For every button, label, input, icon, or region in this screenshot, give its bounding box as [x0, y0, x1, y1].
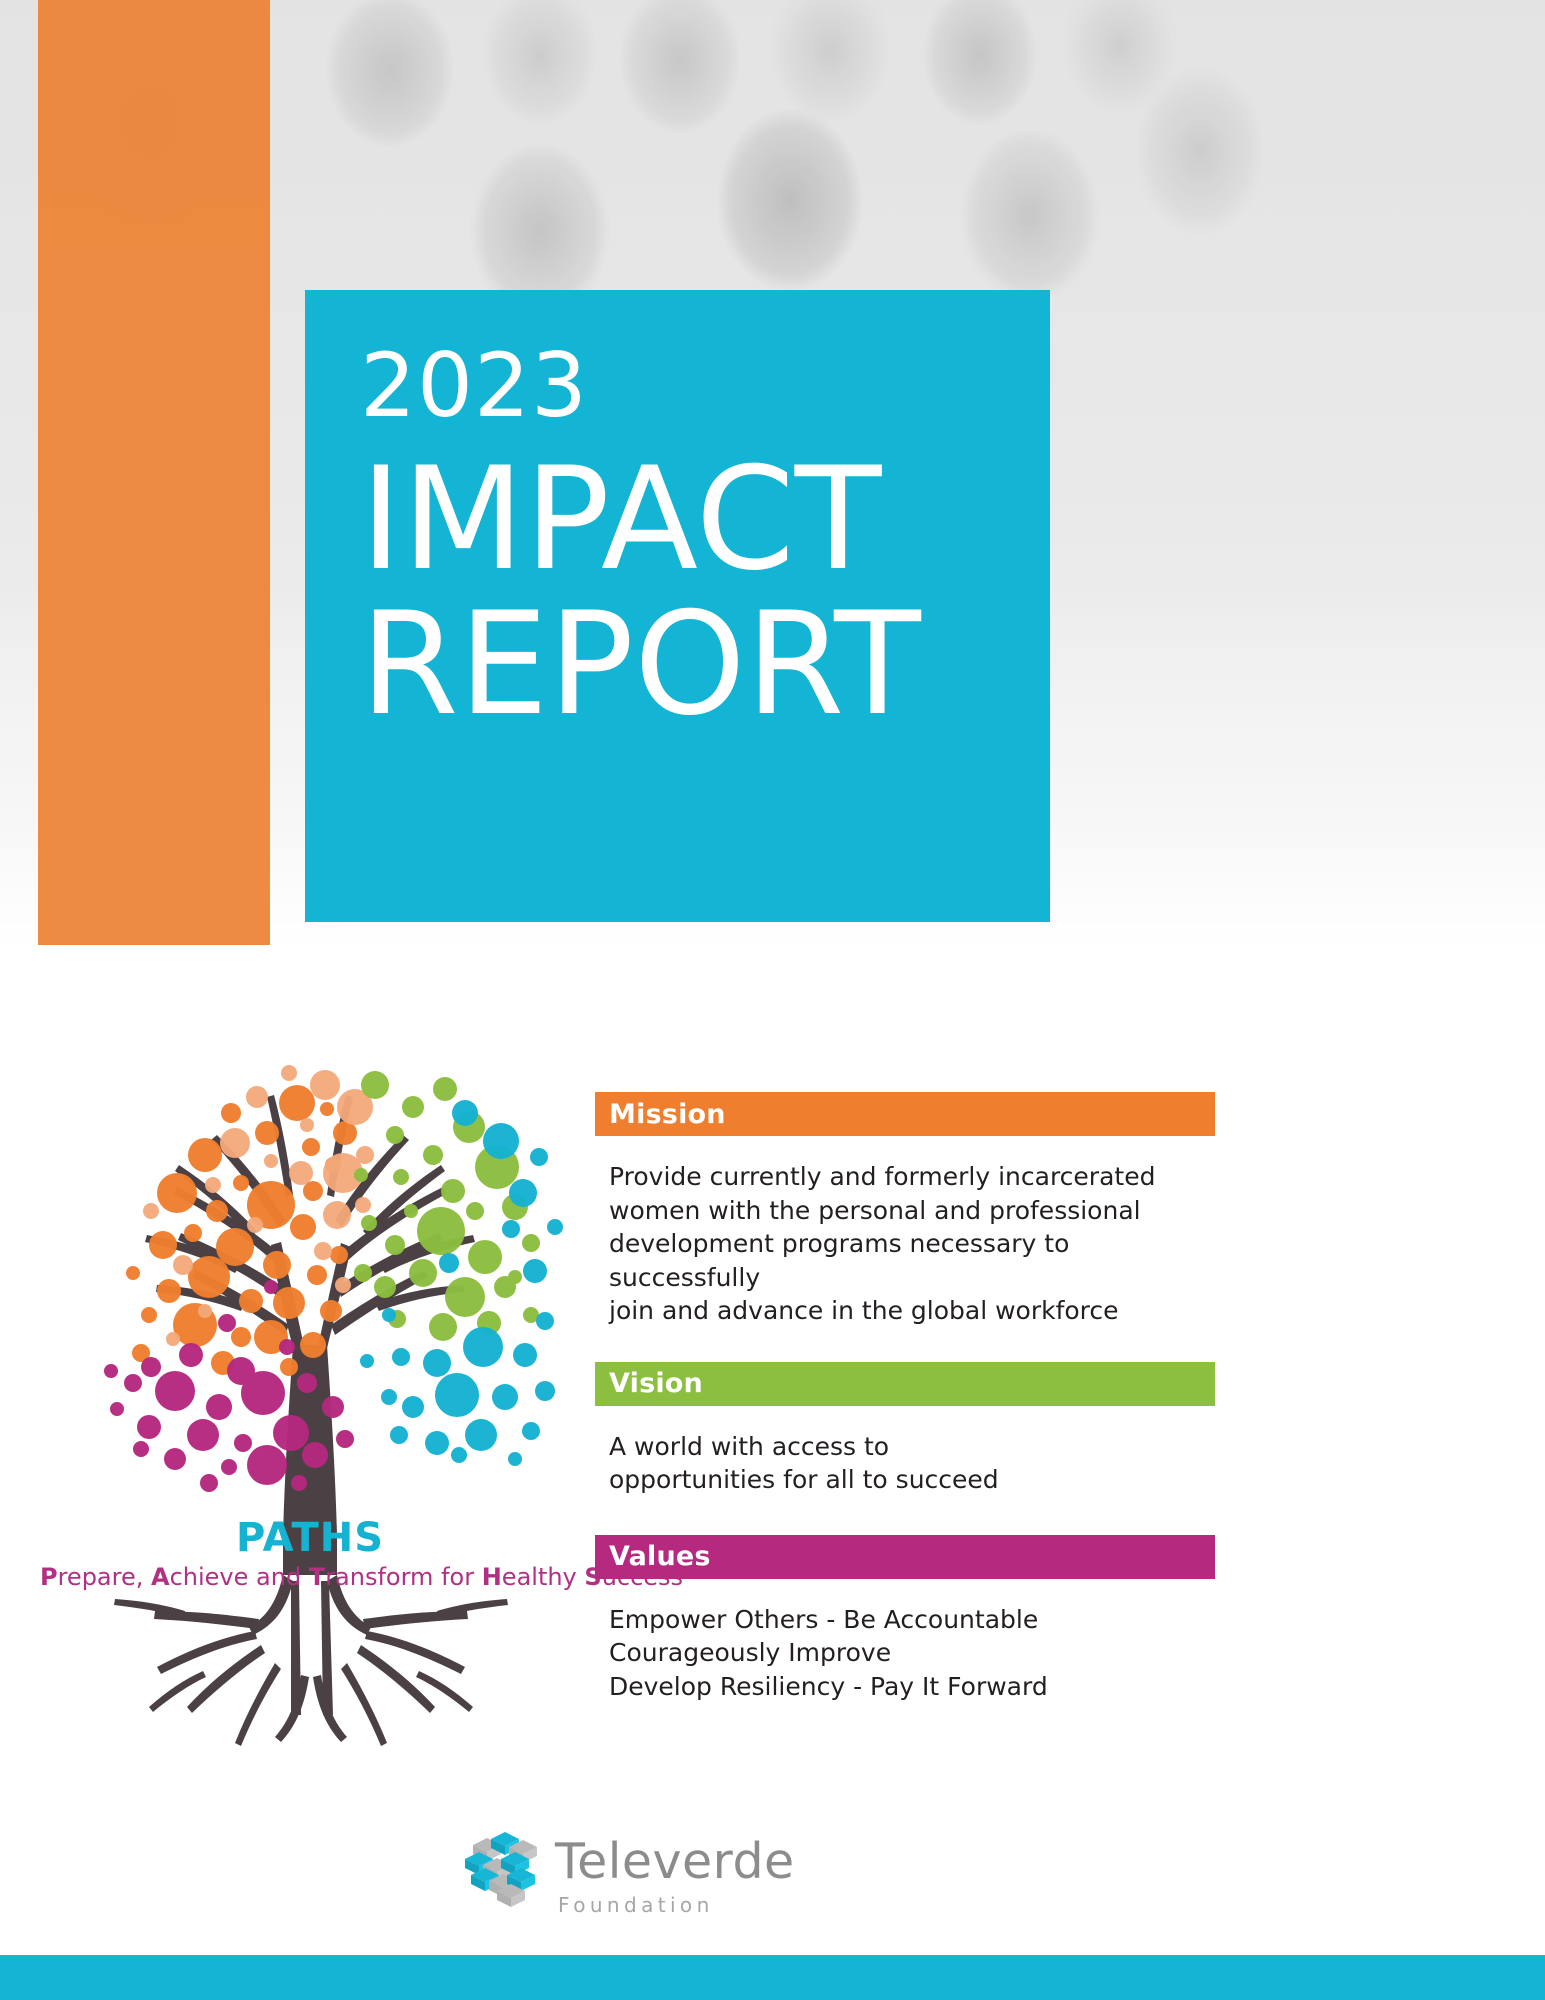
title-line-impact: IMPACT: [360, 448, 1050, 593]
brand-name: Televerde: [555, 1833, 795, 1890]
mission-line: Provide currently and formerly incarcera…: [609, 1160, 1215, 1194]
hero-banner: 2023 IMPACT REPORT: [0, 0, 1545, 945]
mission-line: join and advance in the global workforce: [609, 1294, 1215, 1328]
mission-header-bar: Mission: [595, 1092, 1215, 1136]
mission-line: women with the personal and professional: [609, 1194, 1215, 1228]
impact-report-cover-page: 2023 IMPACT REPORT: [0, 0, 1545, 2000]
spacer: [595, 1328, 1215, 1362]
vision-header-bar: Vision: [595, 1362, 1215, 1406]
vision-body: A world with access to opportunities for…: [595, 1406, 1215, 1497]
mission-line: development programs necessary to succes…: [609, 1227, 1215, 1294]
mission-vision-values-column: Mission Provide currently and formerly i…: [595, 1092, 1215, 1703]
mission-heading: Mission: [609, 1099, 726, 1130]
values-heading: Values: [609, 1541, 711, 1572]
values-line: Develop Resiliency - Pay It Forward: [609, 1670, 1215, 1704]
dot-tree-icon: [45, 1015, 575, 1805]
vision-line: A world with access to: [609, 1430, 1215, 1464]
brand-subtitle: Foundation: [558, 1893, 714, 1917]
values-body: Empower Others - Be Accountable Courageo…: [595, 1579, 1215, 1704]
values-header-bar: Values: [595, 1535, 1215, 1579]
orange-vertical-accent-bar: [38, 0, 270, 945]
vision-heading: Vision: [609, 1368, 703, 1399]
footer-color-bar: [0, 1955, 1545, 2000]
televerde-foundation-logo: Televerde Foundation: [455, 1825, 755, 1930]
paths-tagline: Prepare, Achieve and Transform for Healt…: [40, 1563, 580, 1591]
title-line-report: REPORT: [360, 593, 1050, 738]
vision-line: opportunities for all to succeed: [609, 1463, 1215, 1497]
paths-logo: PATHS Prepare, Achieve and Transform for…: [45, 1015, 575, 1805]
mission-body: Provide currently and formerly incarcera…: [595, 1136, 1215, 1328]
report-year: 2023: [360, 342, 1050, 430]
isometric-cube-grid-icon: [455, 1827, 545, 1917]
spacer: [595, 1497, 1215, 1535]
lower-content-area: PATHS Prepare, Achieve and Transform for…: [0, 945, 1545, 1955]
title-block: 2023 IMPACT REPORT: [305, 290, 1050, 922]
paths-acronym: PATHS: [45, 1515, 575, 1561]
values-line: Courageously Improve: [609, 1636, 1215, 1670]
values-line: Empower Others - Be Accountable: [609, 1603, 1215, 1637]
page-title: IMPACT REPORT: [360, 448, 1050, 738]
